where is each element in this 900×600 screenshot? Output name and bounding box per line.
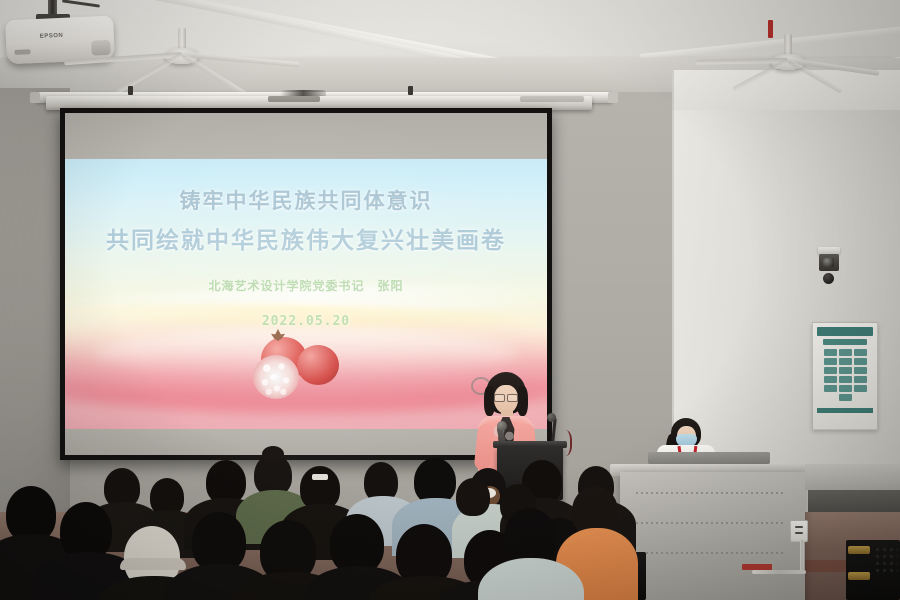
tube-bracket <box>408 86 413 95</box>
poster-chart-node <box>824 376 837 383</box>
lecture-hall-photo: EPSON <box>0 0 900 600</box>
poster-chart-node <box>824 367 837 374</box>
speaker-hair-right <box>517 386 528 416</box>
poster-chart-node <box>839 394 852 401</box>
poster-header-bar <box>817 327 873 336</box>
glasses-lens-left <box>494 394 505 402</box>
camera-dome <box>823 273 834 284</box>
audience-cap-brim <box>120 558 186 570</box>
poster-chart-grid <box>817 349 873 401</box>
screen-roller-bracket <box>520 96 584 102</box>
slide-subtitle: 北海艺术设计学院党委书记 张阳 <box>65 277 547 294</box>
poster-chart-node <box>839 376 852 383</box>
fan-wiring-red <box>768 20 773 38</box>
poster-chart-node <box>839 367 852 374</box>
poster-chart-node <box>854 349 867 356</box>
pomegranate-cut-open <box>253 355 299 399</box>
projector-vent <box>14 49 30 55</box>
audience <box>0 430 900 600</box>
tube-end-cap <box>608 92 618 103</box>
ceiling-fan-right <box>760 34 816 78</box>
org-chart-poster <box>812 322 878 430</box>
fan-stem <box>178 28 186 50</box>
slide-title-line-1: 铸牢中华民族共同体意识 <box>65 185 547 215</box>
poster-chart-node <box>839 358 852 365</box>
glasses-lens-right <box>507 394 518 402</box>
tube-end-cap <box>30 92 40 103</box>
camera-lens <box>823 258 834 267</box>
screen-roller-bracket <box>268 96 320 102</box>
poster-chart-node <box>824 385 837 392</box>
poster-title-bar <box>823 339 867 345</box>
slide-date: 2022.05.20 <box>65 314 547 329</box>
audience-hair-clip <box>312 474 328 480</box>
audience-hair-bun <box>262 446 284 462</box>
poster-chart-node <box>854 376 867 383</box>
tube-bracket <box>128 86 133 95</box>
screen-blank-area-top <box>65 113 547 159</box>
poster-chart-node <box>854 367 867 374</box>
poster-chart-node <box>839 385 852 392</box>
ceiling-fan-left <box>152 28 212 74</box>
poster-footer-bar <box>817 408 873 413</box>
slide-title-line-2: 共同绘就中华民族伟大复兴壮美画卷 <box>65 221 547 255</box>
poster-chart-node <box>839 349 852 356</box>
audience-head <box>192 512 246 572</box>
audience-head <box>456 478 490 516</box>
poster-chart-node <box>854 358 867 365</box>
camera-mount <box>818 247 840 254</box>
speaker-glasses <box>494 394 518 400</box>
projector-lens <box>91 40 111 56</box>
audience-head <box>330 514 384 574</box>
fan-stem <box>784 34 792 56</box>
poster-chart-node <box>854 385 867 392</box>
poster-chart-node <box>824 358 837 365</box>
poster-chart-node <box>824 349 837 356</box>
projector-brand-label: EPSON <box>40 33 64 40</box>
podium-mic-head <box>547 413 556 422</box>
pomegranate-whole-right <box>297 345 339 385</box>
